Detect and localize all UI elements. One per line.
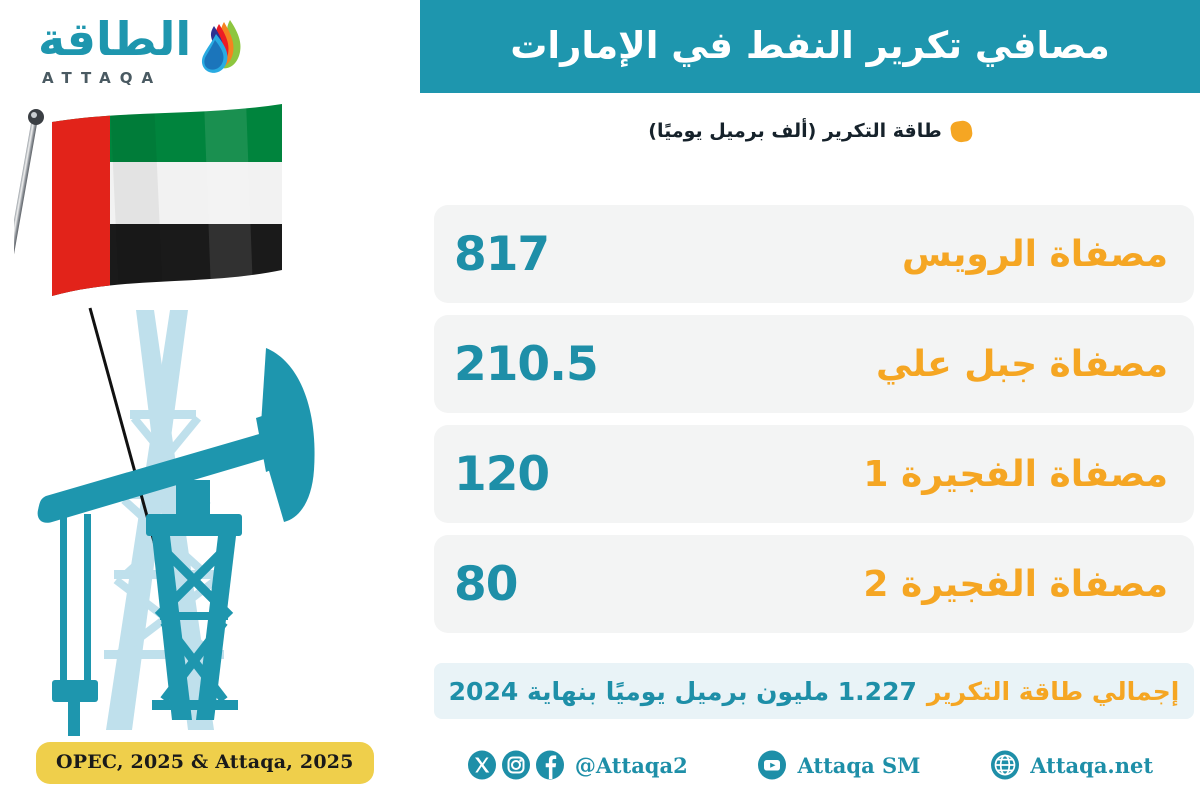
- social-handle-label: @Attaqa2: [575, 753, 688, 778]
- refinery-value: 120: [454, 451, 549, 498]
- legend-label: طاقة التكرير (ألف برميل يوميًا): [648, 120, 941, 142]
- total-label: إجمالي طاقة التكرير: [927, 677, 1179, 706]
- globe-icon[interactable]: [990, 750, 1020, 780]
- website-label: Attaqa.net: [1030, 753, 1153, 778]
- refinery-name: مصفاة الفجيرة 2: [863, 564, 1168, 605]
- table-row[interactable]: مصفاة الفجيرة 1 120: [434, 425, 1194, 523]
- instagram-icon[interactable]: [501, 750, 531, 780]
- refinery-name: مصفاة الفجيرة 1: [863, 454, 1168, 495]
- table-row[interactable]: مصفاة جبل علي 210.5: [434, 315, 1194, 413]
- website-group[interactable]: Attaqa.net: [990, 750, 1153, 780]
- attaqa-logo[interactable]: الطاقة ATTAQA: [28, 14, 258, 96]
- infographic-page: الطاقة ATTAQA: [0, 0, 1200, 800]
- source-badge: OPEC, 2025 & Attaqa, 2025: [36, 742, 374, 784]
- refinery-value: 80: [454, 561, 517, 608]
- title-banner: مصافي تكرير النفط في الإمارات: [420, 0, 1200, 93]
- social-handles-group[interactable]: @Attaqa2: [467, 750, 688, 780]
- logo-wordmark-arabic: الطاقة: [38, 16, 191, 62]
- youtube-label: Attaqa SM: [797, 753, 920, 778]
- refinery-value-group: 817: [454, 231, 555, 278]
- total-value: 1.227 مليون برميل يوميًا بنهاية 2024: [449, 677, 917, 706]
- refinery-value-group: 80: [454, 561, 523, 608]
- youtube-group[interactable]: Attaqa SM: [757, 750, 920, 780]
- refineries-list: مصفاة الرويس 817 مصفاة جبل علي 210.5: [434, 205, 1194, 645]
- refinery-name: مصفاة جبل علي: [876, 344, 1168, 385]
- table-row[interactable]: مصفاة الرويس 817: [434, 205, 1194, 303]
- footer-social-bar: @Attaqa2 Attaqa SM: [420, 742, 1200, 788]
- orange-pentagon-marker-icon: [949, 119, 973, 143]
- facebook-icon[interactable]: [535, 750, 565, 780]
- oil-pumpjack-illustration: [18, 300, 388, 750]
- data-column: مصافي تكرير النفط في الإمارات طاقة التكر…: [420, 0, 1200, 800]
- refinery-value-group: 120: [454, 451, 555, 498]
- refinery-value: 817: [454, 231, 549, 278]
- logo-wordmark-latin: ATTAQA: [42, 69, 162, 87]
- x-twitter-icon[interactable]: [467, 750, 497, 780]
- visual-column: الطاقة ATTAQA: [0, 0, 420, 800]
- page-title: مصافي تكرير النفط في الإمارات: [490, 26, 1130, 67]
- refinery-value-group: 210.5: [454, 341, 604, 388]
- legend: طاقة التكرير (ألف برميل يوميًا): [420, 120, 1200, 142]
- total-capacity-bar: إجمالي طاقة التكرير 1.227 مليون برميل يو…: [434, 663, 1194, 719]
- youtube-icon[interactable]: [757, 750, 787, 780]
- water-drop-flame-icon: [200, 18, 242, 76]
- refinery-value: 210.5: [454, 341, 598, 388]
- table-row[interactable]: مصفاة الفجيرة 2 80: [434, 535, 1194, 633]
- refinery-name: مصفاة الرويس: [902, 234, 1168, 275]
